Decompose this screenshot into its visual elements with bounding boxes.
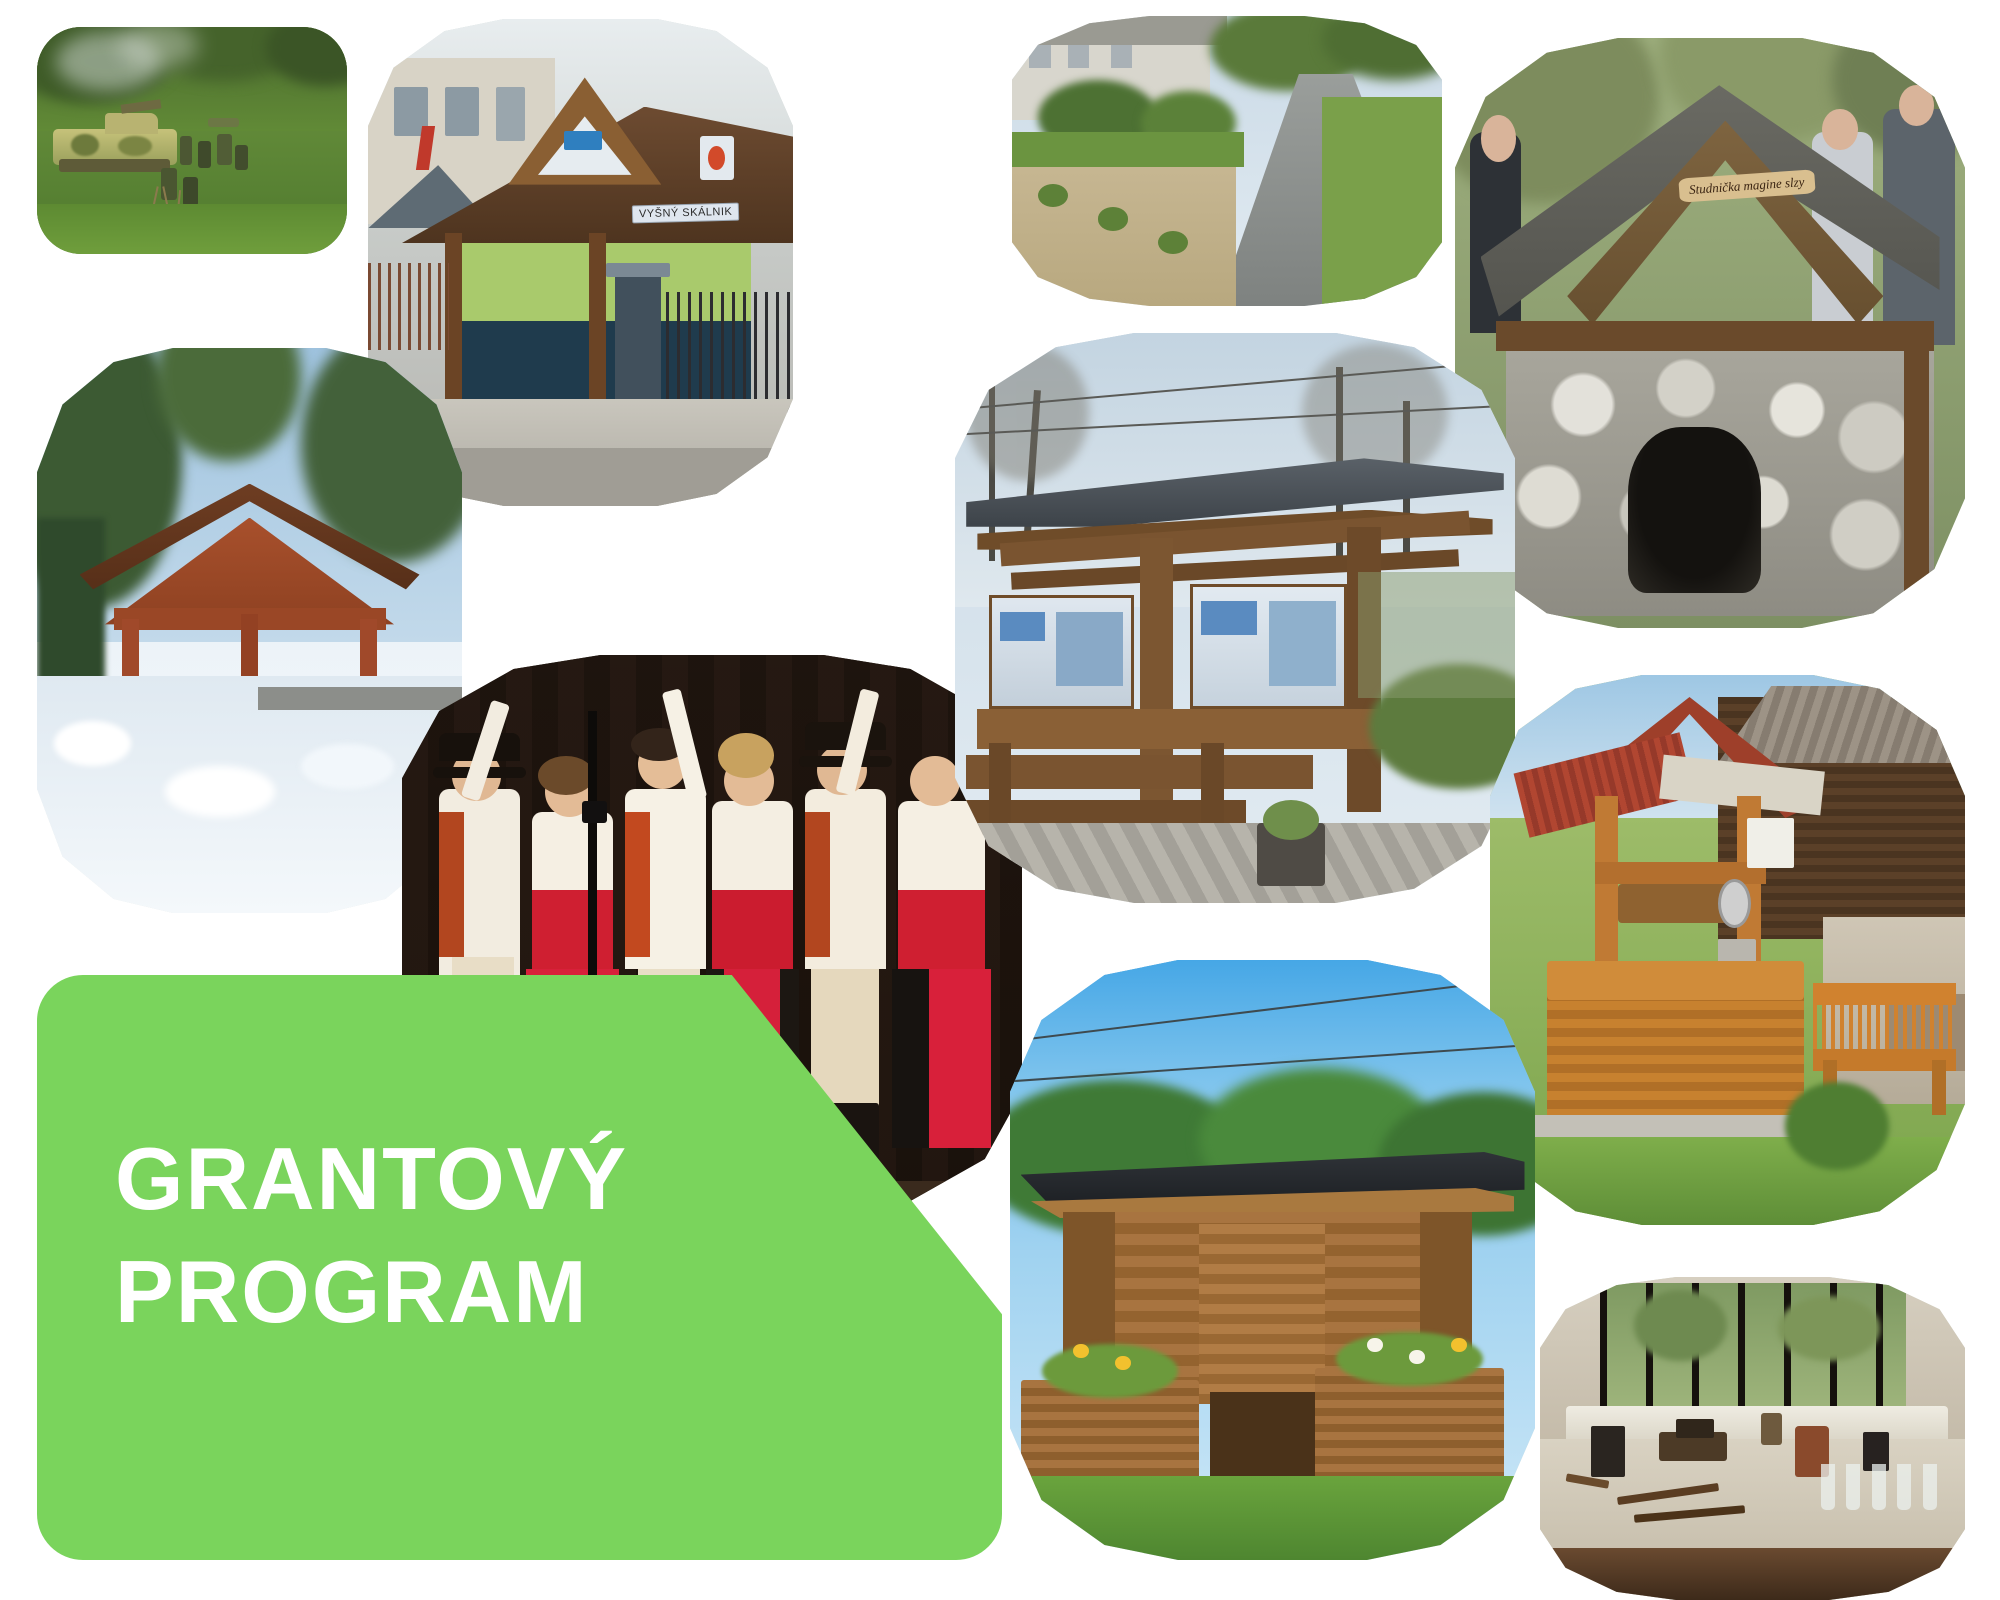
photo-scene (37, 27, 347, 254)
winter-pergola-photo (37, 348, 462, 913)
photo-scene (955, 333, 1515, 903)
photo-scene (1010, 960, 1535, 1560)
headline-line-1: GRANTOVÝ (115, 1129, 628, 1228)
shelter-sign: VYŠNÝ SKÁLNIK (631, 203, 739, 224)
photo-scene (1012, 16, 1442, 306)
garden-shelter-photo (1010, 960, 1535, 1560)
military-reenactment-photo (37, 27, 347, 254)
photo-scene (1540, 1277, 1965, 1600)
photo-scene (37, 348, 462, 913)
village-path-photo (1012, 16, 1442, 306)
museum-interior-photo (1540, 1277, 1965, 1600)
stone-spring-photo: Studnička magine slzy (1455, 38, 1965, 628)
photo-scene: Studnička magine slzy (1455, 38, 1965, 628)
information-shelter-photo (955, 333, 1515, 903)
headline-line-2: PROGRAM (115, 1236, 755, 1349)
village-well-photo (1490, 675, 1965, 1225)
page-title: GRANTOVÝ PROGRAM (115, 1123, 755, 1348)
poster-canvas: VYŠNÝ SKÁLNIK (0, 0, 2000, 1600)
photo-scene (1490, 675, 1965, 1225)
